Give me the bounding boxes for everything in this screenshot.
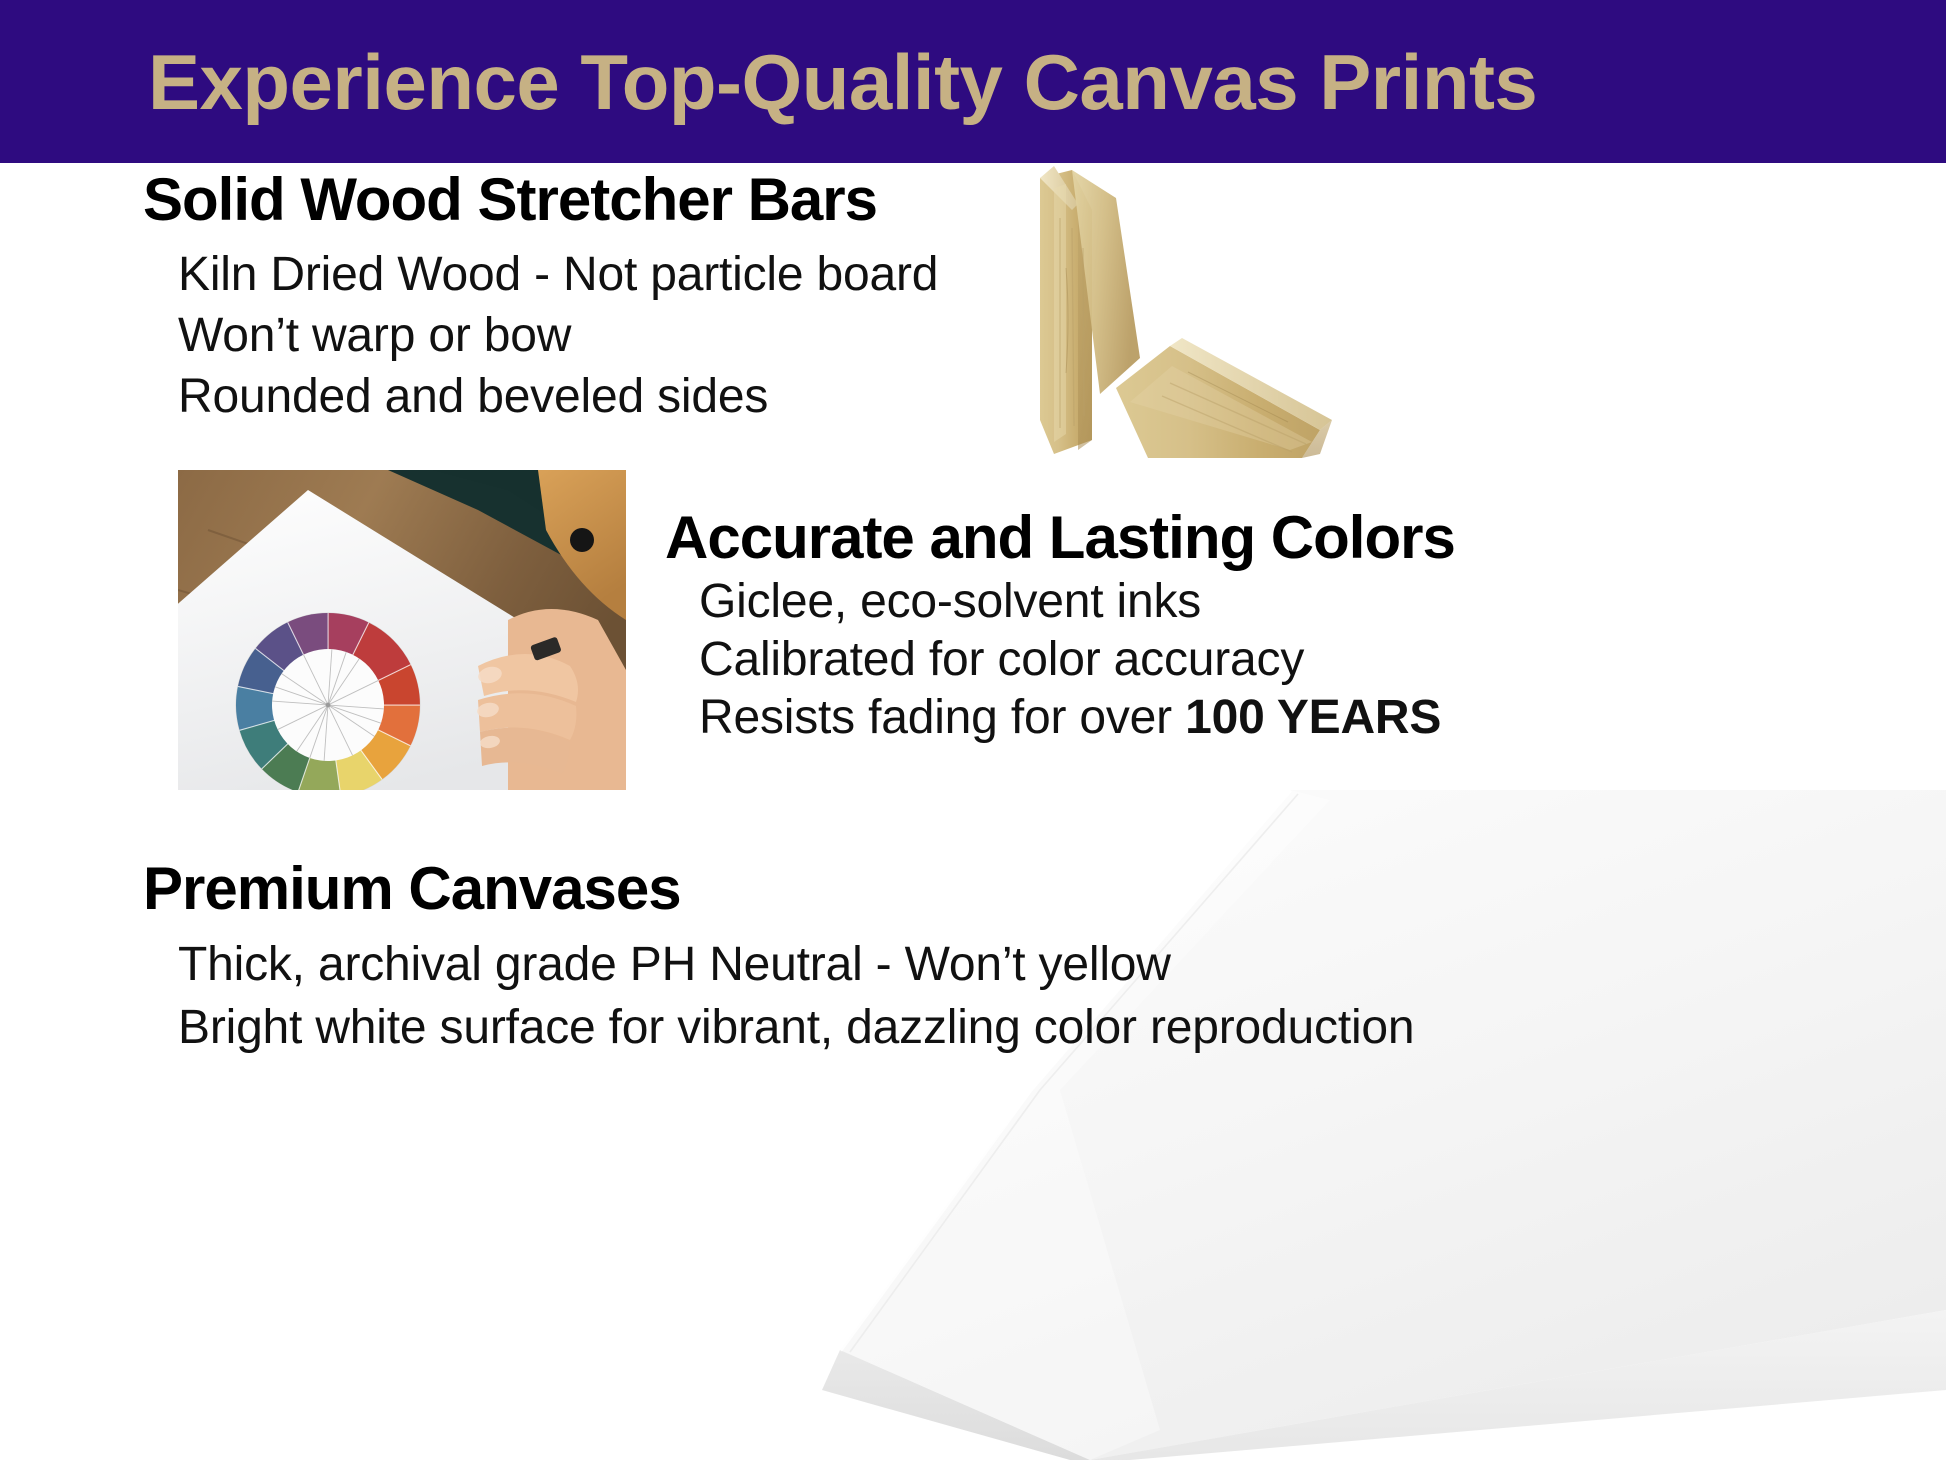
bullet-colors-1: Giclee, eco-solvent inks xyxy=(699,578,1201,626)
bullet-colors-2: Calibrated for color accuracy xyxy=(699,636,1304,684)
section-heading-lasting-colors: Accurate and Lasting Colors xyxy=(665,506,1455,569)
bullet-stretcher-2: Won’t warp or bow xyxy=(178,312,571,360)
bullet-canvas-2: Bright white surface for vibrant, dazzli… xyxy=(178,1004,1414,1052)
color-wheel-illustration xyxy=(178,470,626,790)
bullet-colors-3: Resists fading for over 100 YEARS xyxy=(699,694,1441,742)
bullet-colors-3-emphasis: 100 YEARS xyxy=(1185,691,1441,744)
wood-corner-illustration xyxy=(1020,158,1350,458)
white-canvas-illustration xyxy=(730,790,1946,1460)
bullet-canvas-1: Thick, archival grade PH Neutral - Won’t… xyxy=(178,941,1171,989)
bullet-stretcher-3: Rounded and beveled sides xyxy=(178,373,768,421)
bullet-colors-3-text: Resists fading for over xyxy=(699,691,1185,744)
color-wheel-image xyxy=(178,470,626,790)
page-title: Experience Top-Quality Canvas Prints xyxy=(148,43,1537,121)
section-heading-stretcher-bars: Solid Wood Stretcher Bars xyxy=(143,168,877,231)
wood-stretcher-bar-image xyxy=(1020,158,1350,458)
white-canvas-image xyxy=(730,790,1946,1460)
header-banner: Experience Top-Quality Canvas Prints xyxy=(0,0,1946,163)
bullet-stretcher-1: Kiln Dried Wood - Not particle board xyxy=(178,251,938,299)
section-heading-premium-canvases: Premium Canvases xyxy=(143,857,681,920)
